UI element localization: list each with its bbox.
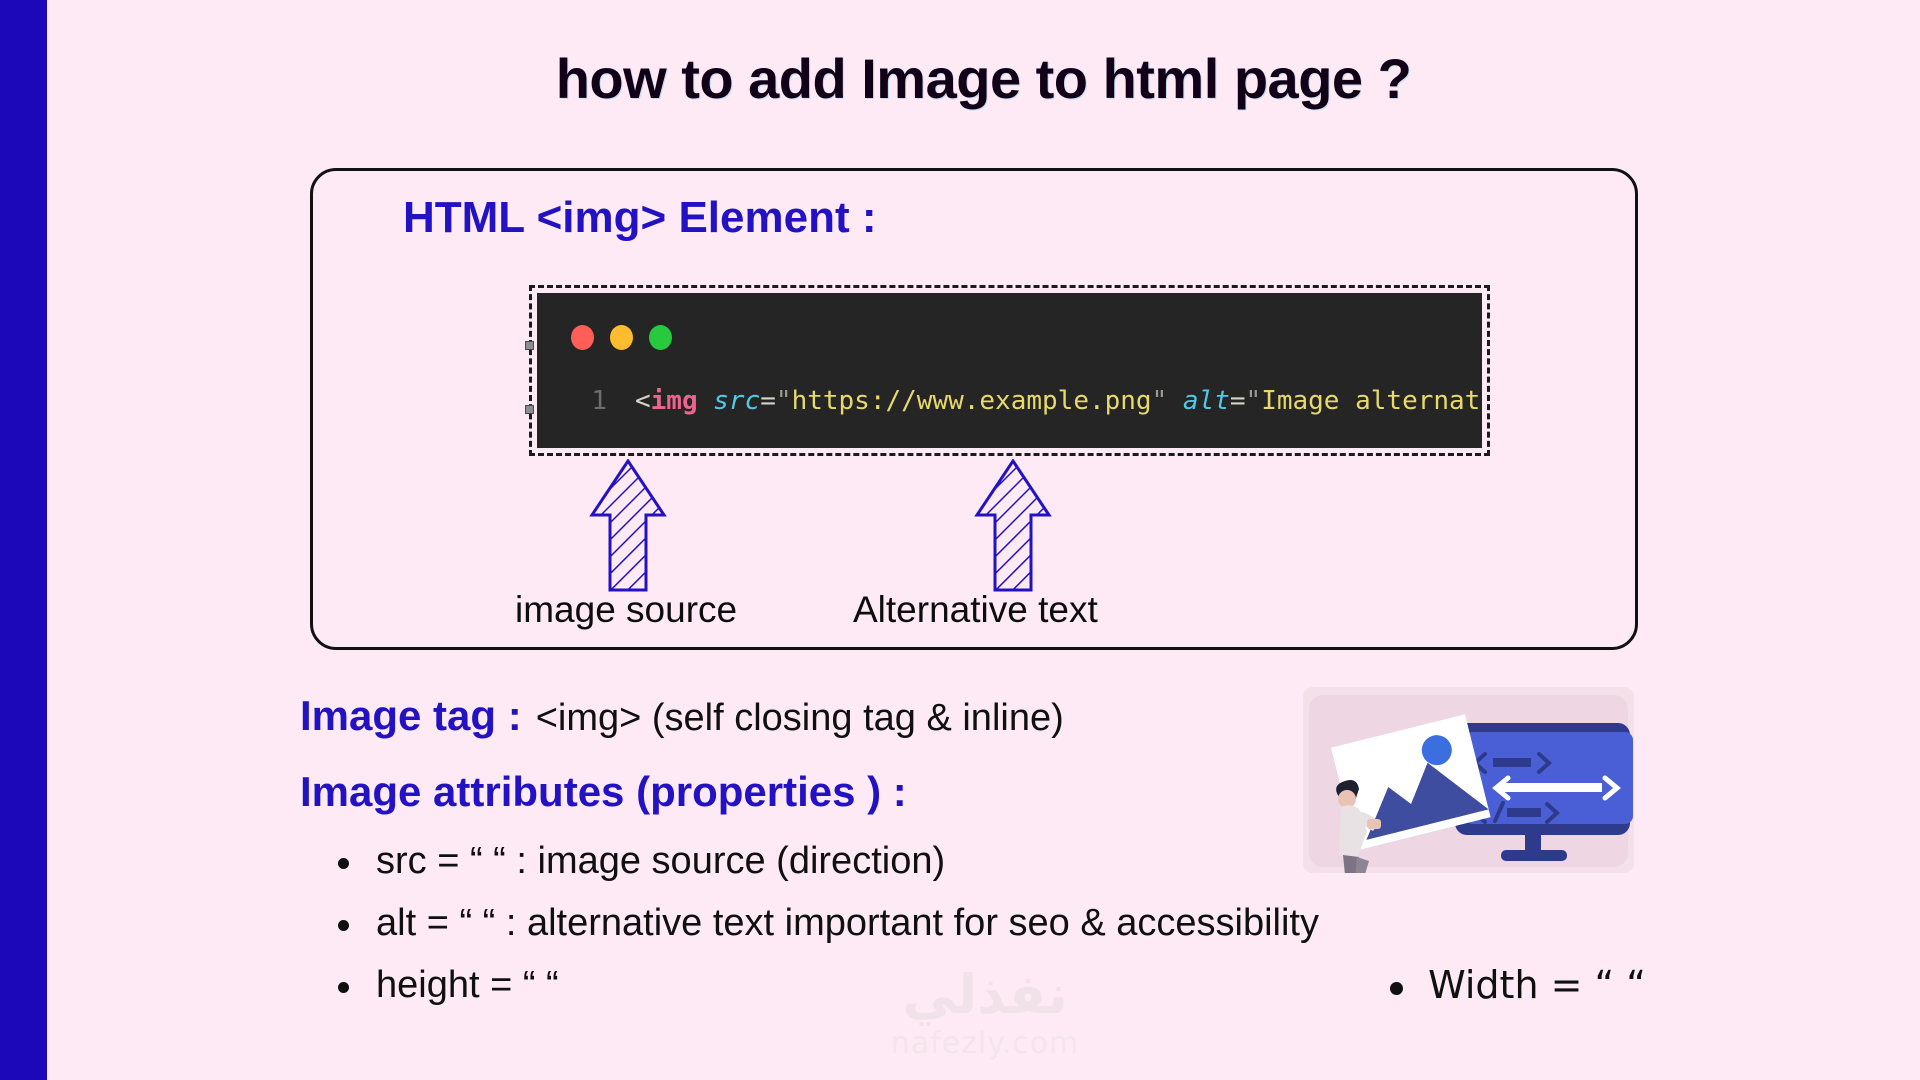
maximize-green-icon[interactable] — [649, 325, 672, 350]
watermark-latin: nafezly.com — [855, 1026, 1115, 1061]
close-red-icon[interactable] — [571, 325, 594, 350]
code-token-quote-close-1: " — [1152, 386, 1168, 416]
window-traffic-lights — [571, 325, 672, 350]
code-token-eq-2: = — [1230, 386, 1246, 416]
list-item-width: Width = “ “ — [1382, 954, 1646, 1016]
image-tag-label: Image tag : — [300, 692, 522, 740]
code-window: 1 <img src="https://www.example.png" alt… — [537, 293, 1482, 448]
image-tag-row: Image tag : <img> (self closing tag & in… — [300, 692, 1064, 740]
code-token-value-src: https://www.example.png — [792, 386, 1152, 416]
list-item: alt = “ “ : alternative text important f… — [330, 892, 1610, 954]
illustration-image — [1303, 687, 1634, 873]
code-token-space-1 — [698, 386, 714, 416]
code-token-eq-1: = — [760, 386, 776, 416]
image-attributes-label: Image attributes (properties ) : — [300, 768, 907, 815]
code-token-attr-src: src — [713, 386, 760, 416]
code-window-wrapper: 1 <img src="https://www.example.png" alt… — [537, 293, 1482, 448]
code-token-value-alt: Image alternative — [1261, 386, 1482, 416]
list-item-height: height = “ “ — [376, 954, 559, 1016]
minimize-yellow-icon[interactable] — [610, 325, 633, 350]
code-token-open-bracket: < — [635, 386, 651, 416]
image-tag-value: <img> (self closing tag & inline) — [536, 697, 1064, 740]
slide-canvas: how to add Image to html page ? HTML <im… — [0, 0, 1920, 1080]
arrow-up-alternative-text-icon — [973, 459, 1053, 594]
card-heading: HTML <img> Element : — [403, 193, 877, 243]
code-token-tag: img — [651, 386, 698, 416]
resize-handle-left-top[interactable] — [525, 341, 534, 350]
code-token-quote-open-2: " — [1246, 386, 1262, 416]
arrow-label-image-source: image source — [515, 589, 737, 631]
arrow-label-alternative-text: Alternative text — [853, 589, 1098, 631]
left-accent-bar — [0, 0, 47, 1080]
arrow-up-image-source-icon — [588, 459, 668, 594]
code-line-1: 1 <img src="https://www.example.png" alt… — [563, 386, 1482, 416]
code-token-quote-open-1: " — [776, 386, 792, 416]
code-token-space-2 — [1167, 386, 1183, 416]
line-number: 1 — [563, 386, 635, 416]
img-element-card: HTML <img> Element : 1 <img src="https:/… — [310, 168, 1638, 650]
image-attributes-row: Image attributes (properties ) : — [300, 768, 907, 816]
list-item: height = “ “ Width = “ “ — [330, 954, 1610, 1016]
code-token-attr-alt: alt — [1183, 386, 1230, 416]
page-title: how to add Image to html page ? — [47, 46, 1920, 111]
resize-handle-left-bottom[interactable] — [525, 405, 534, 414]
